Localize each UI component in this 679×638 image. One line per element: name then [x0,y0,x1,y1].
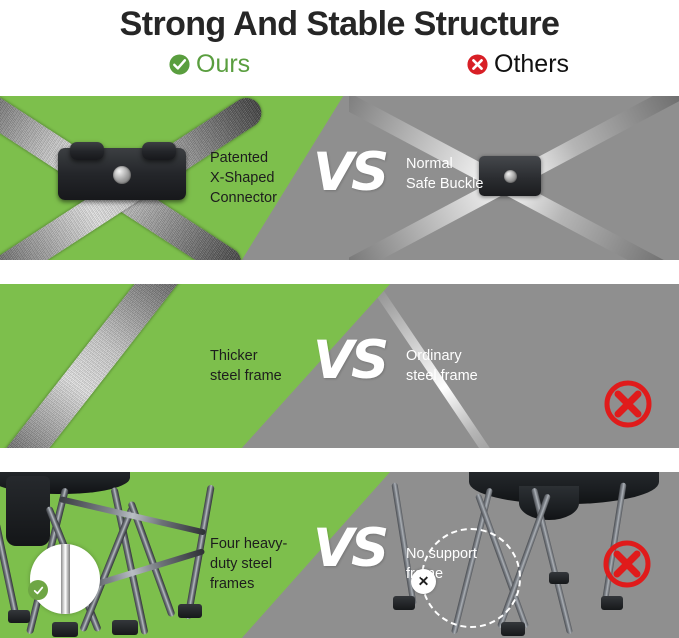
others-header-label: Others [494,50,569,79]
vs-badge: VS [313,522,386,575]
thickness-magnifier [30,544,100,614]
normal-safe-buckle-photo [349,96,679,260]
others-header: Others [466,50,569,79]
check-circle-icon [168,53,191,76]
others-feature-label: Normal Safe Buckle [406,154,483,194]
comparison-row-frame-thickness: Thicker steel frame Ordinary steel frame… [0,284,679,448]
red-x-mark-icon [601,538,653,590]
others-feature-label: No support frame [406,544,477,584]
page-title: Strong And Stable Structure [0,0,679,46]
check-icon [32,584,45,597]
ours-feature-label: Patented X-Shaped Connector [210,148,277,208]
comparison-row-support-frames: ✕ Four heavy- duty steel frames No suppo… [0,472,679,638]
vs-badge: VS [313,146,386,199]
ours-feature-label: Thicker steel frame [210,346,282,386]
magnifier-check-badge [28,580,48,600]
others-feature-label: Ordinary steel frame [406,346,478,386]
x-circle-icon [466,53,489,76]
ours-feature-label: Four heavy- duty steel frames [210,534,287,594]
vs-badge: VS [313,334,386,387]
ours-header: Ours [168,50,250,79]
ours-header-label: Ours [196,50,250,79]
comparison-row-connector: Patented X-Shaped Connector Normal Safe … [0,96,679,260]
red-x-mark-icon [602,378,654,430]
comparison-header: Ours Others [0,46,679,92]
